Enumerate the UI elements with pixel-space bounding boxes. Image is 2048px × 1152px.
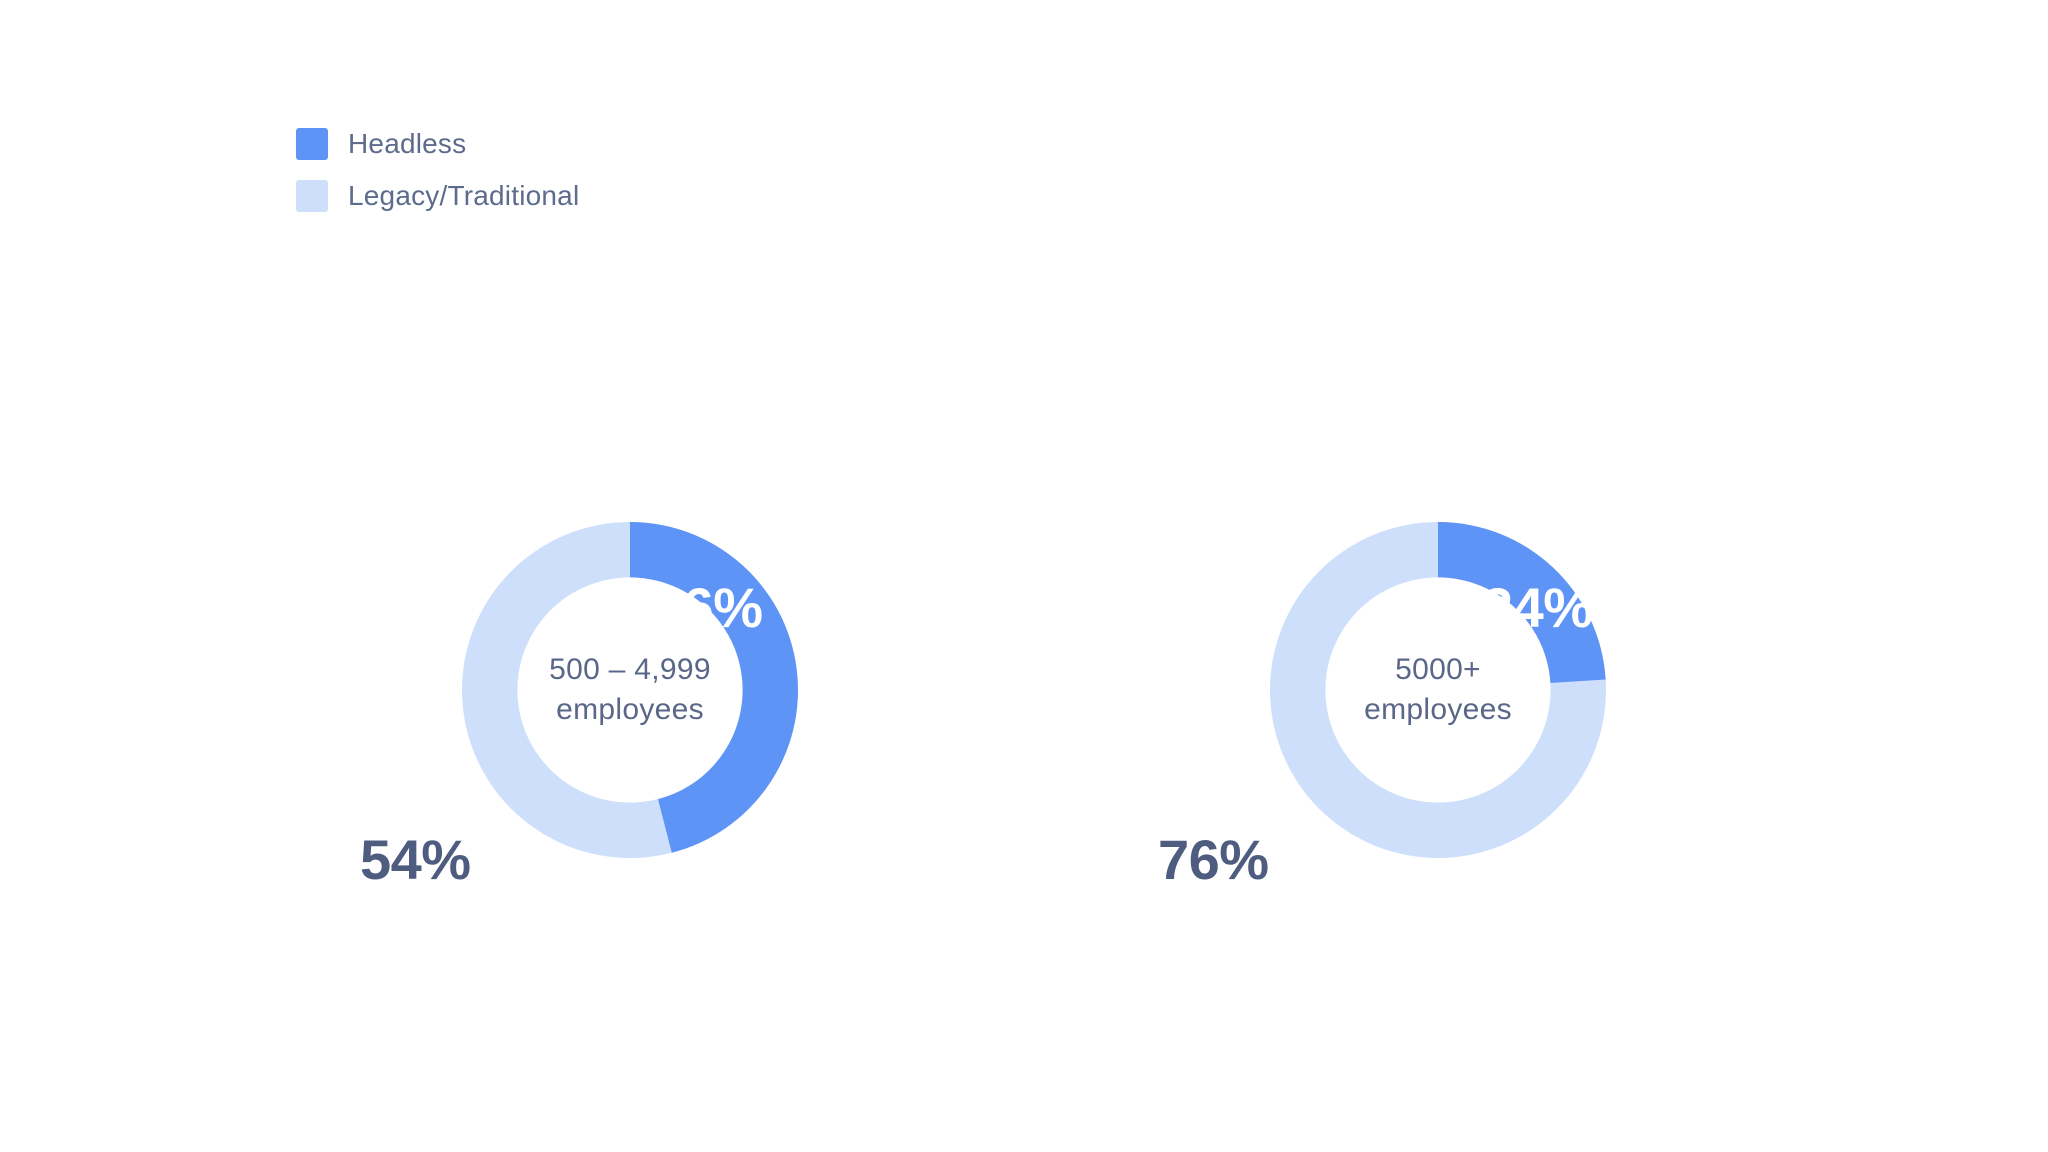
donut-chart-5000-plus: 5000+ employees 24% 76% bbox=[1228, 480, 1648, 900]
donut-value-label-legacy: 54% bbox=[360, 832, 471, 888]
donut-value-label-legacy: 76% bbox=[1158, 832, 1269, 888]
donut-value-label-headless: 46% bbox=[652, 580, 763, 636]
donut-charts-container: 500 – 4,999 employees 46% 54% 5000+ empl… bbox=[0, 0, 2048, 1152]
donut-svg-5000-plus bbox=[1228, 480, 1648, 900]
donut-svg-500-4999 bbox=[420, 480, 840, 900]
donut-value-label-headless: 24% bbox=[1482, 580, 1593, 636]
donut-chart-500-4999: 500 – 4,999 employees 46% 54% bbox=[420, 480, 840, 900]
